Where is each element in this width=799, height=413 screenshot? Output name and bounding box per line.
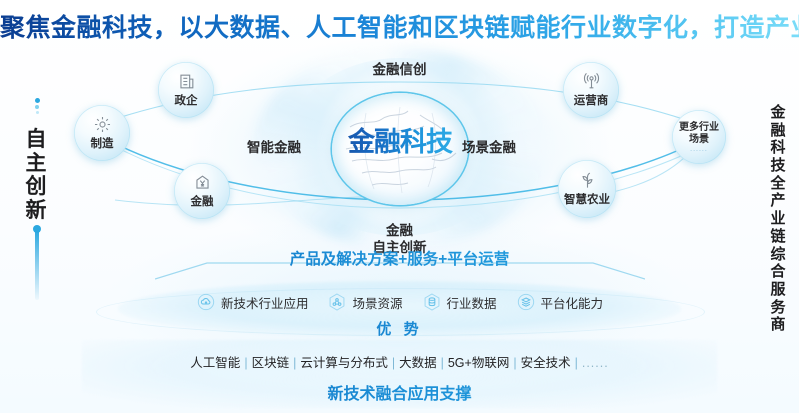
node-label: 金融	[191, 193, 214, 209]
node-more-dots: ......	[690, 146, 708, 153]
database-icon	[422, 292, 442, 312]
technology-item: 人工智能	[190, 356, 240, 370]
tier3-title: 新技术融合应用支撑	[0, 380, 799, 404]
technology-more: ......	[582, 356, 609, 370]
technology-item: 5G+物联网	[448, 356, 509, 370]
node-telecom-operator[interactable]: 运营商	[563, 62, 619, 118]
bank-money-icon	[193, 173, 212, 192]
technology-item: 云计算与分布式	[300, 356, 388, 370]
infographic-canvas: 聚焦金融科技，以大数据、人工智能和区块链赋能行业数字化，打造产业融合新生态 自 …	[0, 0, 799, 413]
node-finance[interactable]: 金融	[174, 163, 230, 219]
capability-label: 新技术行业应用	[221, 293, 309, 312]
technology-separator: |	[392, 356, 395, 370]
signal-tower-icon	[582, 72, 601, 91]
capability-item[interactable]: 行业数据	[422, 292, 497, 312]
capability-label: 行业数据	[447, 293, 497, 312]
node-label: 制造	[91, 135, 114, 151]
technology-item: 区块链	[252, 356, 290, 370]
hexagon-network-icon	[327, 292, 347, 312]
capability-item[interactable]: 新技术行业应用	[196, 292, 309, 312]
building-icon	[177, 72, 196, 91]
smart-agriculture-icon	[578, 171, 597, 190]
capability-item[interactable]: 平台化能力	[516, 292, 604, 312]
technology-separator: |	[575, 356, 578, 370]
technology-separator: |	[513, 356, 516, 370]
center-label-left: 智能金融	[247, 136, 301, 156]
node-more-scenarios[interactable]: 更多行业场景 ......	[672, 110, 726, 164]
capability-list: 新技术行业应用 场景资源 行业数据	[0, 292, 799, 312]
gear-icon	[93, 115, 112, 134]
technology-separator: |	[293, 356, 296, 370]
tier2-title: 产品及解决方案+服务+平台运营	[0, 247, 799, 269]
center-label-right: 场景金融	[462, 136, 516, 156]
technology-item: 安全技术	[521, 356, 571, 370]
advantage-label: 优 势	[0, 318, 799, 339]
node-label: 运营商	[574, 92, 609, 108]
node-label: 更多行业场景	[679, 122, 719, 144]
technology-separator: |	[244, 356, 247, 370]
core-label: 金融科技	[332, 120, 468, 159]
technology-item: 大数据	[399, 356, 437, 370]
node-label: 智慧农业	[564, 191, 610, 207]
center-label-top: 金融信创	[0, 58, 799, 78]
capability-label: 场景资源	[352, 293, 402, 312]
node-smart-agriculture[interactable]: 智慧农业	[558, 160, 616, 218]
node-manufacturing[interactable]: 制造	[74, 105, 130, 161]
layers-stack-icon	[516, 292, 536, 312]
node-government-enterprise[interactable]: 政企	[158, 62, 214, 118]
node-label: 政企	[175, 92, 198, 108]
capability-item[interactable]: 场景资源	[327, 292, 402, 312]
capability-label: 平台化能力	[541, 293, 604, 312]
technology-list: 人工智能|区块链|云计算与分布式|大数据|5G+物联网|安全技术|......	[0, 352, 799, 371]
cloud-circle-icon	[196, 292, 216, 312]
technology-separator: |	[441, 356, 444, 370]
